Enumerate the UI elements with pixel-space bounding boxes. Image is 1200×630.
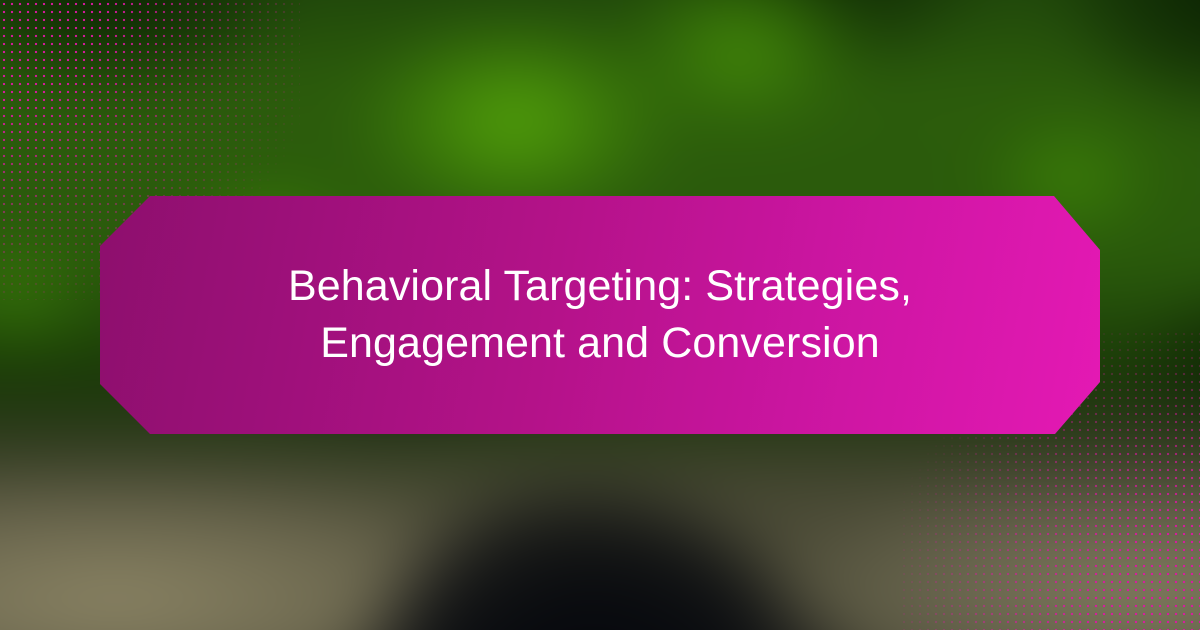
title-banner: Behavioral Targeting: Strategies, Engage… — [100, 196, 1100, 434]
page-title: Behavioral Targeting: Strategies, Engage… — [142, 258, 1058, 372]
social-share-card: Behavioral Targeting: Strategies, Engage… — [0, 0, 1200, 630]
